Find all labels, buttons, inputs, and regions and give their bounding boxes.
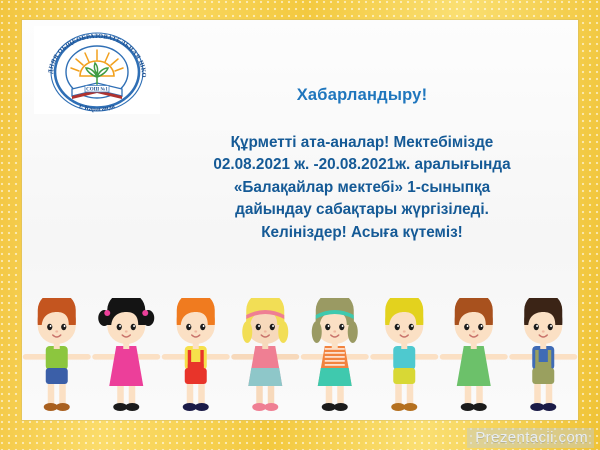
child-figure (231, 298, 299, 411)
slide-canvas: СРЕДНЯЯ ОБЩЕОБРАЗОВАТЕЛЬНАЯ ШКОЛА г. Кар… (22, 20, 578, 420)
child-figure (23, 298, 91, 411)
announcement-body: Құрметті ата-аналар! Мектебімізде 02.08.… (142, 132, 578, 244)
announcement-line: «Балақайлар мектебі» 1-сыныпқа (142, 177, 578, 199)
emblem-book-label: СОШ №1 (86, 87, 108, 93)
child-figure (440, 298, 508, 411)
child-figure (92, 298, 160, 411)
announcement-line: 02.08.2021 ж. -20.08.2021ж. аралығында (142, 154, 578, 176)
child-figure (509, 298, 577, 411)
children-holding-hands-illustration (22, 298, 578, 420)
child-figure (162, 298, 230, 411)
announcement-line: Құрметті ата-аналар! Мектебімізде (142, 132, 578, 154)
page-title: Хабарландыру! (142, 86, 578, 106)
child-figure (370, 298, 438, 411)
announcement-line: Келініздер! Асыға күтеміз! (142, 222, 578, 244)
announcement-slide: СРЕДНЯЯ ОБЩЕОБРАЗОВАТЕЛЬНАЯ ШКОЛА г. Кар… (0, 0, 600, 450)
announcement-text: Хабарландыру! Құрметті ата-аналар! Мекте… (142, 86, 578, 244)
child-figure (301, 298, 369, 411)
announcement-line: дайындау сабақтары жүргізіледі. (142, 199, 578, 221)
children-graphic (22, 298, 578, 420)
